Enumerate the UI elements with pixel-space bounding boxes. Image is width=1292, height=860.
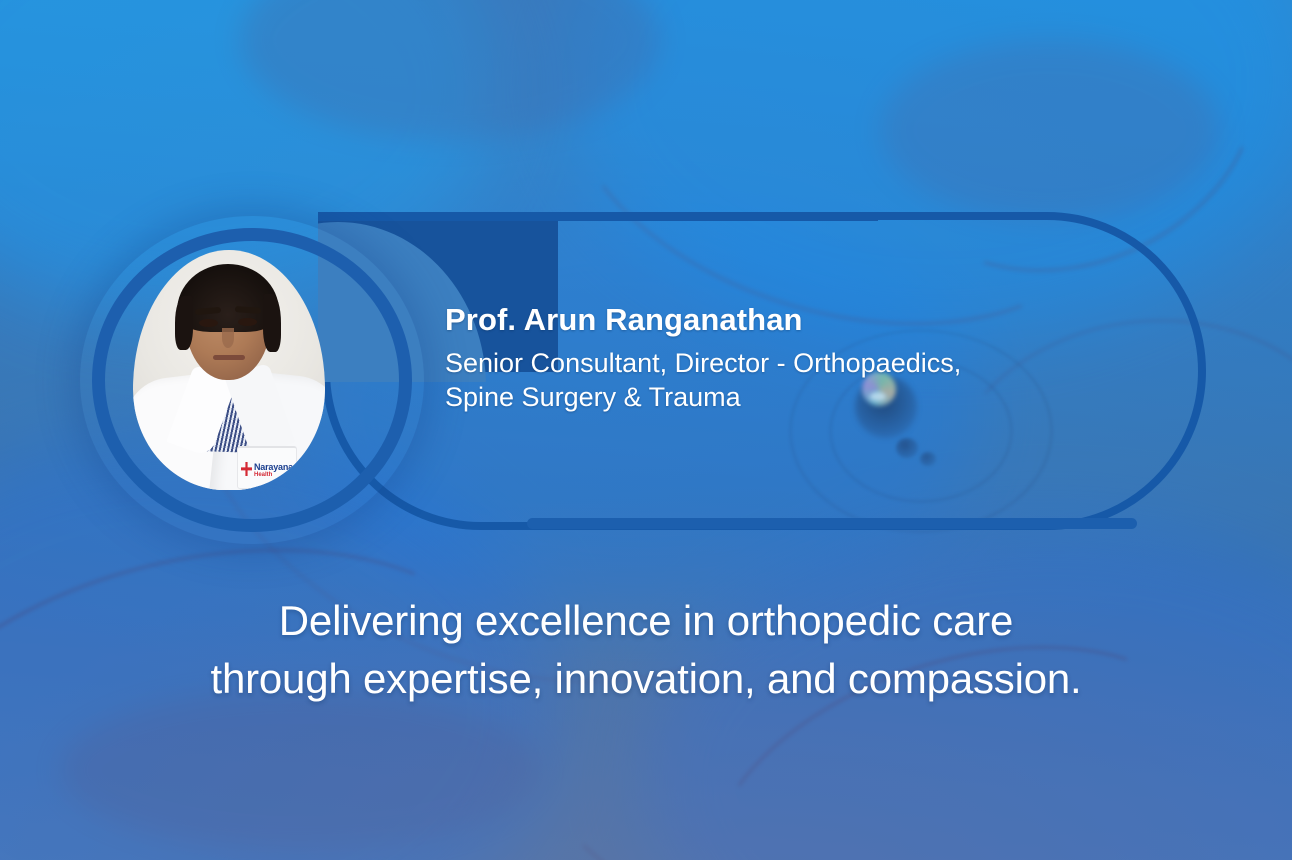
tagline-line-1: Delivering excellence in orthopedic care [0,592,1292,650]
portrait-mouth [213,355,245,360]
doctor-title: Senior Consultant, Director - Orthopaedi… [445,346,1205,414]
frame-bottom-bar [527,518,1137,529]
hospital-logo: Narayana Health [241,462,293,480]
tagline: Delivering excellence in orthopedic care… [0,592,1292,708]
portrait-nose [222,328,234,348]
doctor-title-line-2: Spine Surgery & Trauma [445,380,1205,414]
poster-canvas: Narayana Health Prof. Arun Ranganathan S… [0,0,1292,860]
doctor-title-line-1: Senior Consultant, Director - Orthopaedi… [445,346,1205,380]
doctor-name: Prof. Arun Ranganathan [445,302,803,338]
hospital-logo-sub: Health [254,472,272,478]
tagline-line-2: through expertise, innovation, and compa… [0,650,1292,708]
portrait-hair-left [175,296,193,350]
portrait-eye-right [238,318,257,326]
avatar: Narayana Health [133,250,325,490]
hospital-logo-name: Narayana [254,462,293,472]
cross-icon [241,462,252,476]
portrait-hair-right [263,294,281,352]
portrait-eye-left [199,319,218,327]
frame-top-bar [318,212,878,221]
